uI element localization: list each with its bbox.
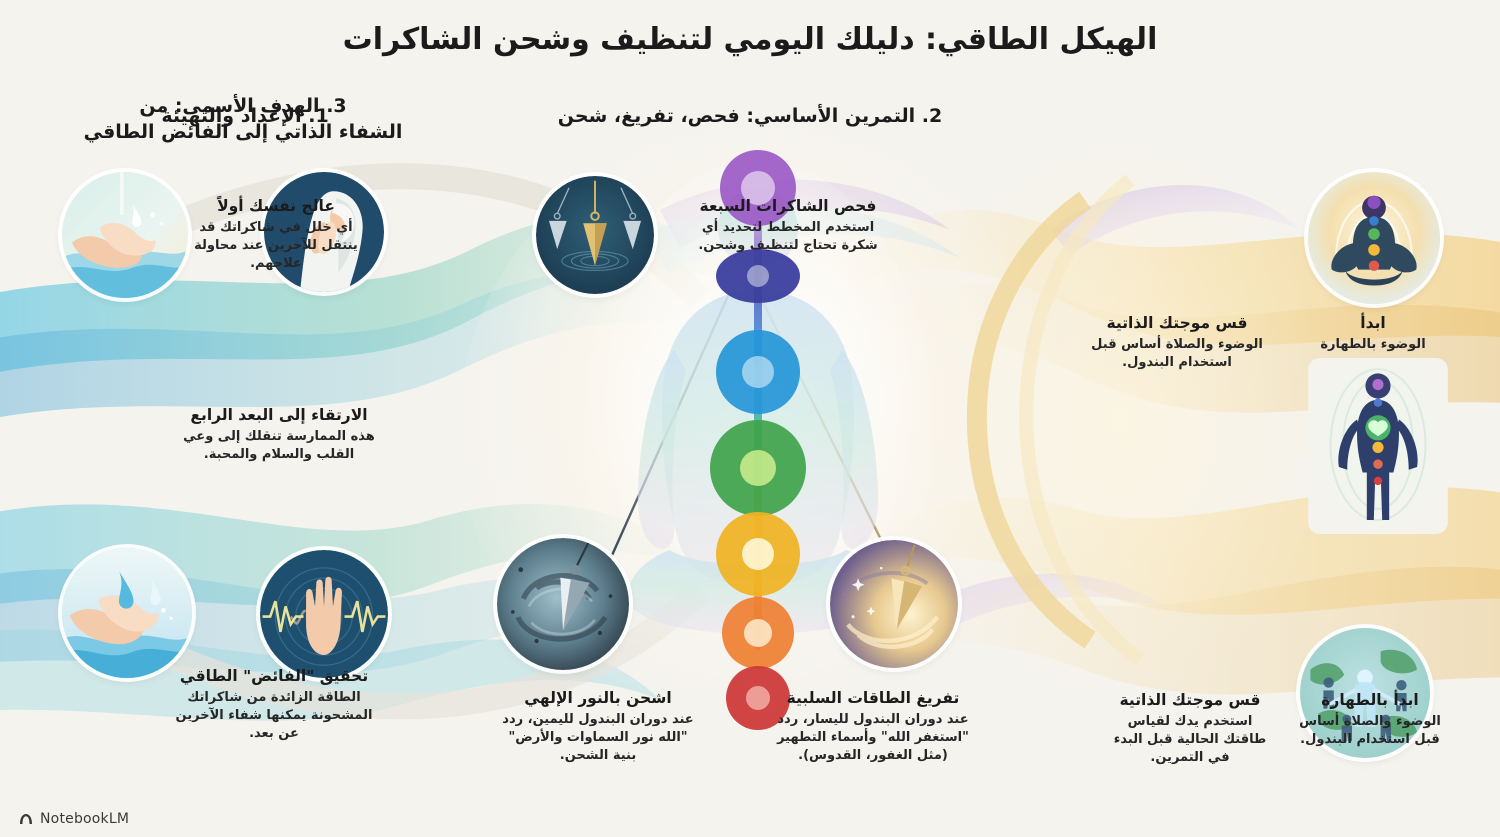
caption-title: قس موجتك الذاتية [1082,313,1272,333]
caption-title: ابدأ [1298,313,1448,333]
caption-charge: اشحن بالنور الإلهي عند دوران البندول للي… [500,688,696,765]
caption-measure-bottom: قس موجتك الذاتية استخدم يدك لقياس طاقتك … [1106,690,1274,767]
caption-desc: الطاقة الزائدة من شاكراتك المشحونة يمكنه… [168,689,380,743]
caption-scan: فحص الشاكرات السبعة استخدم المخطط لتحديد… [688,196,888,255]
bubble-palm-waveform [260,550,388,678]
caption-title: الارتقاء إلى البعد الرابع [180,405,378,425]
section-heading-3: 3. الهدف الأسمى: من الشفاء الذاتي إلى ال… [78,94,408,145]
chakra-node-heart [710,420,806,516]
bubble-droplet-hands [62,548,192,678]
caption-desc: أي خلل في شاكراتك قد ينتقل للآخرين عند م… [185,219,367,273]
caption-desc: استخدم يدك لقياس طاقتك الحالية قبل البدء… [1106,713,1274,767]
chakra-node-third-eye [716,249,800,303]
watermark: NotebookLM [18,811,129,827]
bubble-pendulum-scan [536,176,654,294]
bubble-charge-light [830,540,958,668]
caption-purify-bottom: ابدأ بالطهارة الوضوء والصلاة أساس قبل اس… [1290,690,1450,749]
caption-title: قس موجتك الذاتية [1106,690,1274,710]
watermark-text: NotebookLM [40,811,129,827]
page-title: الهيكل الطاقي: دليلك اليومي لتنظيف وشحن … [0,22,1500,57]
caption-desc: الوضوء والصلاة أساس قبل استخدام البندول. [1290,713,1450,749]
caption-title: تحقيق "الفائض" الطاقي [168,666,380,686]
section-heading-3-line1: 3. الهدف الأسمى: من [78,94,408,120]
section-heading-3-line2: الشفاء الذاتي إلى الفائض الطاقي [78,120,408,146]
notebooklm-logo-icon [18,811,34,827]
caption-title: عالج نفسك أولاً [185,196,367,216]
caption-title: تفريغ الطاقات السلبية [768,688,978,708]
infographic-canvas: الهيكل الطاقي: دليلك اليومي لتنظيف وشحن … [0,0,1500,837]
chakra-node-solar-plexus [716,512,800,596]
caption-title: فحص الشاكرات السبعة [688,196,888,216]
caption-title: اشحن بالنور الإلهي [500,688,696,708]
bubble-hands-washing [62,172,188,298]
caption-surplus: تحقيق "الفائض" الطاقي الطاقة الزائدة من … [168,666,380,743]
caption-fourth-dimension: الارتقاء إلى البعد الرابع هذه الممارسة ت… [180,405,378,464]
chakra-node-throat [716,330,800,414]
bubble-discharge-swirl [497,538,629,670]
bubble-standing-figure-heart [1308,358,1448,534]
caption-purify-top: ابدأ الوضوء بالطهارة [1298,313,1448,354]
bubble-meditating-figure [1308,172,1440,304]
caption-desc: الوضوء والصلاة أساس قبل استخدام البندول. [1082,336,1272,372]
caption-discharge: تفريغ الطاقات السلبية عند دوران البندول … [768,688,978,765]
caption-desc: عند دوران البندول لليمين، ردد "الله نور … [500,711,696,765]
caption-desc: استخدم المخطط لتحديد أي شكرة تحتاج لتنظي… [688,219,888,255]
caption-desc: عند دوران البندول لليسار، ردد "استغفر ال… [768,711,978,765]
caption-heal-self: عالج نفسك أولاً أي خلل في شاكراتك قد ينت… [185,196,367,273]
caption-title: ابدأ بالطهارة [1290,690,1450,710]
chakra-node-sacral [722,597,794,669]
section-heading-2: 2. التمرين الأساسي: فحص، تفريغ، شحن [520,104,980,130]
caption-desc: الوضوء بالطهارة [1298,336,1448,354]
caption-prayer-top: قس موجتك الذاتية الوضوء والصلاة أساس قبل… [1082,313,1272,372]
caption-desc: هذه الممارسة تنقلك إلى وعي القلب والسلام… [180,428,378,464]
